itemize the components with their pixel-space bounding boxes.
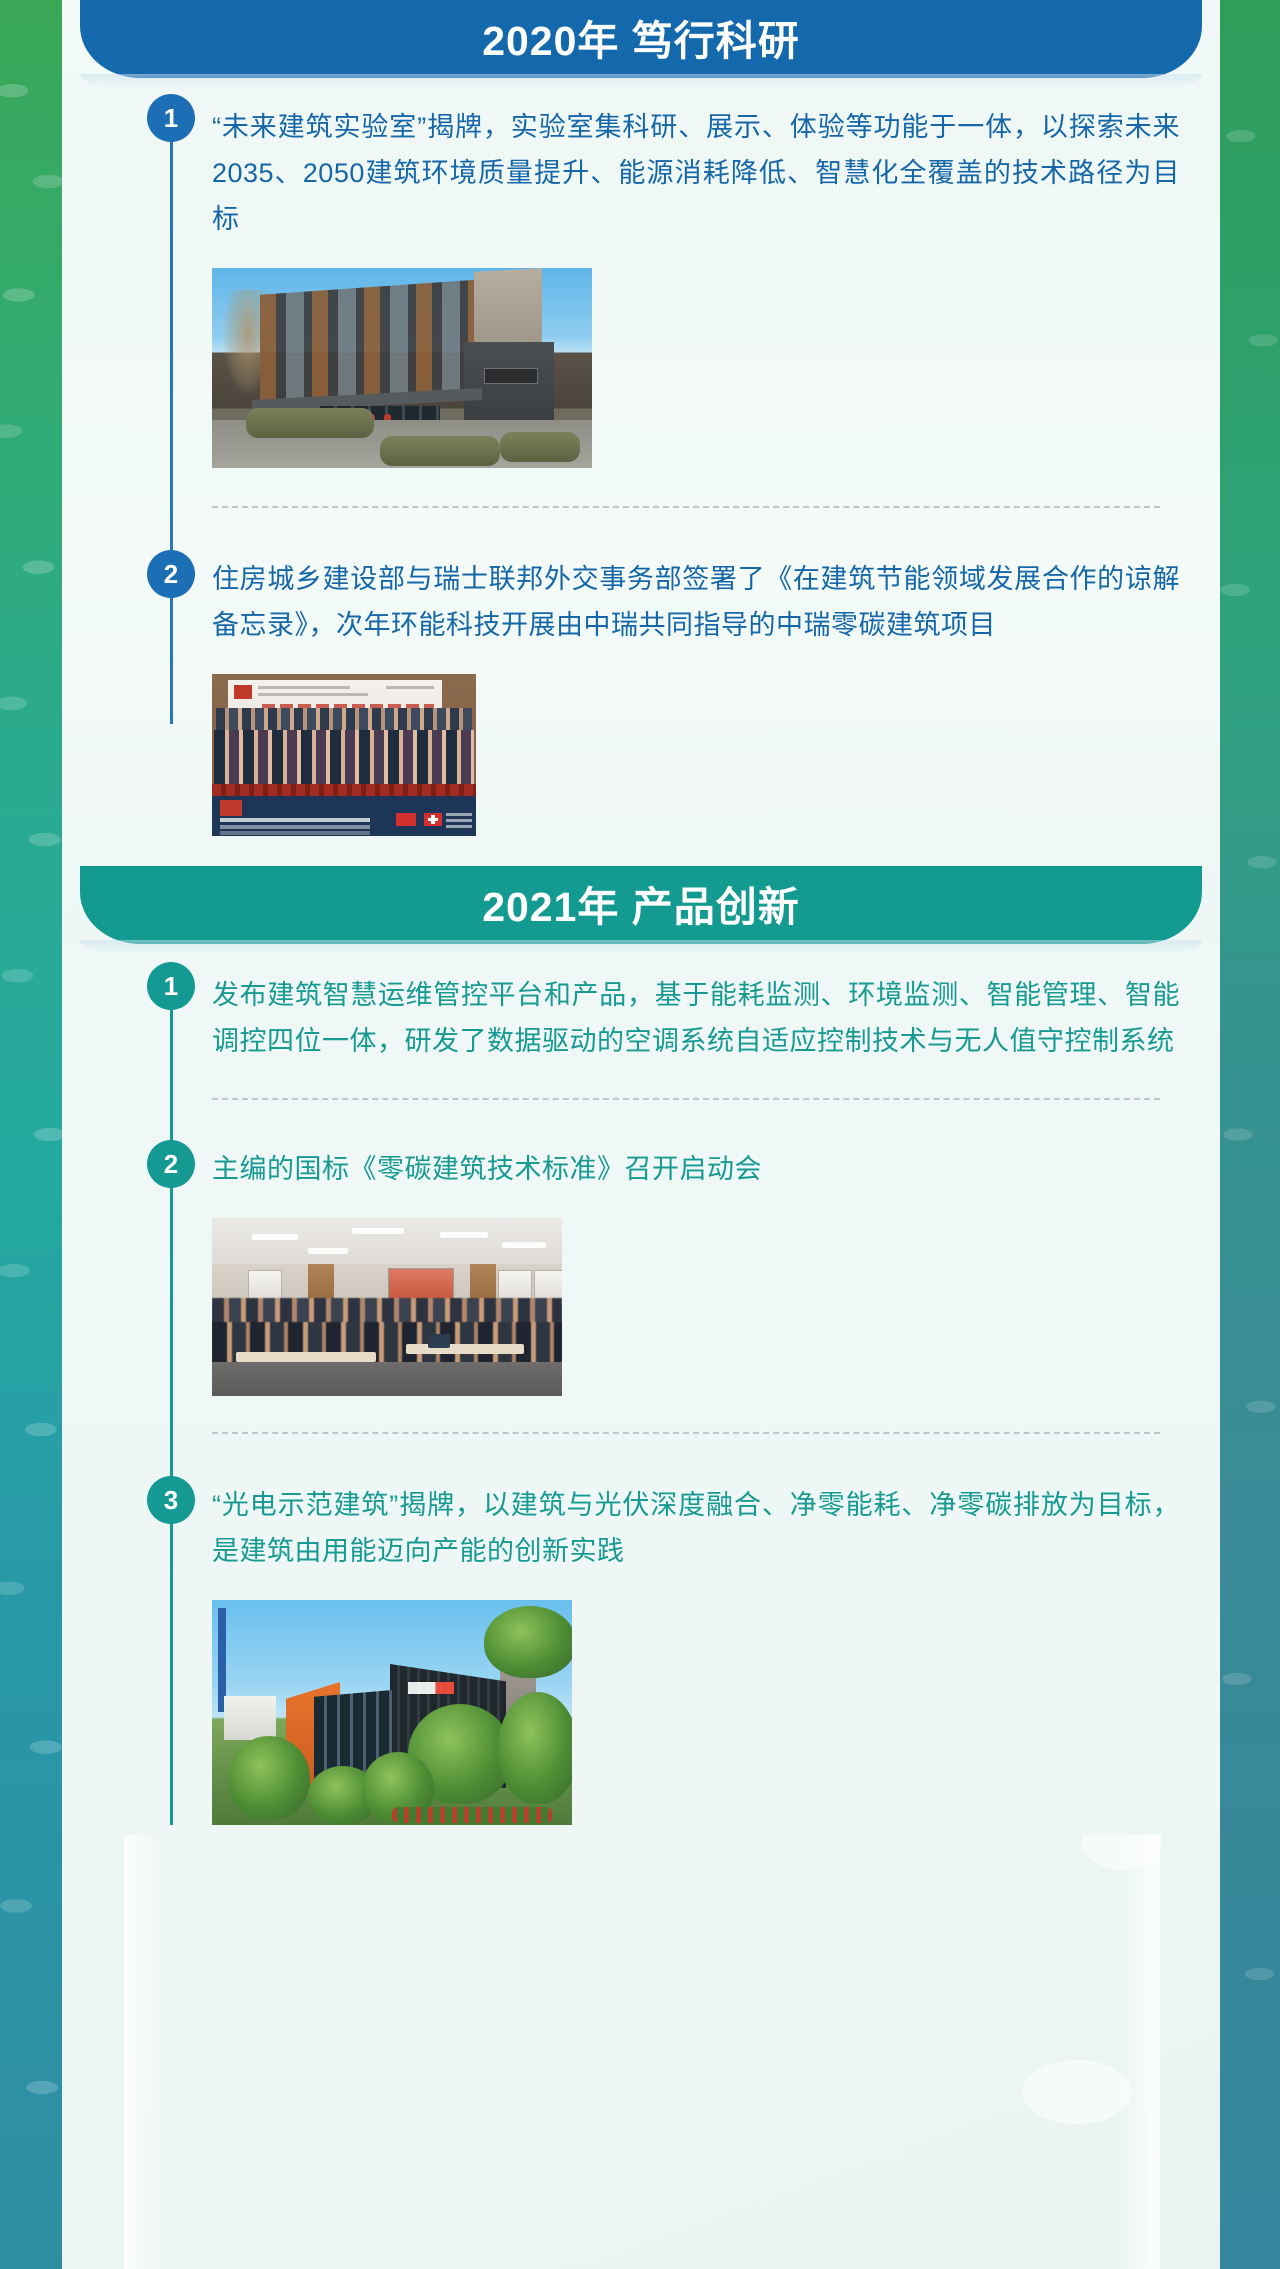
photo-laptop: [428, 1334, 450, 1348]
zero-carbon-standard-kickoff-meeting-photo: [212, 1218, 562, 1396]
timeline-item-text: 主编的国标《零碳建筑技术标准》召开启动会: [212, 1146, 1180, 1192]
timeline-item: 3 “光电示范建筑”揭牌，以建筑与光伏深度融合、净零能耗、净零碳排放为目标，是建…: [62, 1432, 1220, 1825]
timeline-item: 1 发布建筑智慧运维管控平台和产品，基于能耗监测、环境监测、智能管理、智能调控四…: [62, 944, 1220, 1064]
photo-sponsor-logos: [446, 810, 472, 828]
photo-ceiling-light: [502, 1242, 546, 1248]
timeline-2021: 1 发布建筑智慧运维管控平台和产品，基于能耗监测、环境监测、智能管理、智能调控四…: [62, 944, 1220, 1825]
photo-hedge: [380, 436, 500, 466]
timeline-marker-number: 1: [147, 94, 195, 142]
photo-hedge: [246, 408, 374, 438]
china-flag-icon: [396, 813, 416, 826]
photo-backdrop-logo: [234, 685, 252, 699]
photo-footer-logo: [220, 800, 242, 816]
photo-dark-volume: [464, 342, 554, 426]
photo-tree: [484, 1606, 572, 1678]
photo-ceiling-light: [308, 1248, 348, 1254]
photo-floor: [212, 1362, 562, 1396]
timeline-item-text: “未来建筑实验室”揭牌，实验室集科研、展示、体验等功能于一体，以探索未来2035…: [212, 104, 1180, 242]
timeline-item-text: 住房城乡建设部与瑞士联邦外交事务部签署了《在建筑节能领域发展合作的谅解备忘录》，…: [212, 556, 1180, 648]
photo-white-building: [224, 1696, 276, 1740]
year-banner-2021: 2021年 产品创新: [80, 866, 1202, 944]
year-banner-2021-title: 2021年 产品创新: [482, 873, 800, 933]
photo-entrance-sign: [484, 368, 538, 384]
photo-flower-bed: [392, 1807, 552, 1823]
year-banner-2020: 2020年 笃行科研: [80, 0, 1202, 78]
right-decorative-strip: [1220, 0, 1280, 2269]
timeline-item-text: “光电示范建筑”揭牌，以建筑与光伏深度融合、净零能耗、净零碳排放为目标，是建筑由…: [212, 1482, 1180, 1574]
photo-ceiling-light: [352, 1228, 404, 1234]
timeline-marker-number: 3: [147, 1476, 195, 1524]
photo-ceiling-light: [252, 1234, 298, 1240]
background-blob: [1022, 2060, 1132, 2124]
timeline-item-text: 发布建筑智慧运维管控平台和产品，基于能耗监测、环境监测、智能管理、智能调控四位一…: [212, 972, 1180, 1064]
switzerland-flag-icon: [424, 813, 442, 826]
photo-footer-band: [212, 796, 476, 836]
year-banner-2021-wrapper: 2021年 产品创新: [62, 866, 1220, 944]
photo-backdrop-line: [386, 686, 434, 689]
photo-hedge: [500, 432, 580, 462]
photo-tree: [498, 1692, 572, 1804]
item-divider: [212, 1098, 1160, 1100]
timeline-item: 2 主编的国标《零碳建筑技术标准》召开启动会: [62, 1098, 1220, 1396]
timeline-marker-number: 2: [147, 550, 195, 598]
item-divider: [212, 1432, 1160, 1434]
future-architecture-laboratory-building-photo: [212, 268, 592, 468]
section-2021-body: 1 发布建筑智慧运维管控平台和产品，基于能耗监测、环境监测、智能管理、智能调控四…: [62, 944, 1220, 1835]
year-banner-2020-wrapper: 2020年 笃行科研: [62, 0, 1220, 78]
infographic-page: 2020年 笃行科研 1 “未来建筑实验室”揭牌，实验室集科研、展示、体验等功能…: [0, 0, 1280, 2269]
timeline-marker-number: 1: [147, 962, 195, 1010]
photovoltaic-demonstration-building-photo: [212, 1600, 572, 1825]
photo-container: [212, 268, 1180, 468]
section-2020-body: 1 “未来建筑实验室”揭牌，实验室集科研、展示、体验等功能于一体，以探索未来20…: [62, 78, 1220, 866]
content-canvas: 2020年 笃行科研 1 “未来建筑实验室”揭牌，实验室集科研、展示、体验等功能…: [62, 0, 1220, 2269]
photo-backdrop-line: [258, 686, 350, 689]
photo-ceiling: [212, 1218, 562, 1264]
photo-container: [212, 1600, 1180, 1825]
photo-container: [212, 674, 1180, 836]
photo-backdrop-line: [258, 693, 368, 696]
photo-ceiling-light: [440, 1232, 488, 1238]
photo-building-logo: [408, 1682, 454, 1694]
photo-footer-caption: [220, 818, 370, 822]
china-swiss-zero-carbon-forum-group-photo: [212, 674, 476, 836]
timeline-item: 2 住房城乡建设部与瑞士联邦外交事务部签署了《在建筑节能领域发展合作的谅解备忘录…: [62, 506, 1220, 836]
photo-table: [406, 1344, 524, 1354]
timeline-item: 1 “未来建筑实验室”揭牌，实验室集科研、展示、体验等功能于一体，以探索未来20…: [62, 78, 1220, 468]
photo-people-front-row: [214, 730, 474, 786]
timeline-2020: 1 “未来建筑实验室”揭牌，实验室集科研、展示、体验等功能于一体，以探索未来20…: [62, 78, 1220, 836]
left-decorative-strip: [0, 0, 62, 2269]
photo-container: [212, 1218, 1180, 1396]
item-divider: [212, 506, 1160, 508]
photo-table: [236, 1352, 376, 1362]
timeline-marker-number: 2: [147, 1140, 195, 1188]
photo-tree: [228, 1736, 310, 1820]
year-banner-2020-title: 2020年 笃行科研: [482, 7, 800, 67]
